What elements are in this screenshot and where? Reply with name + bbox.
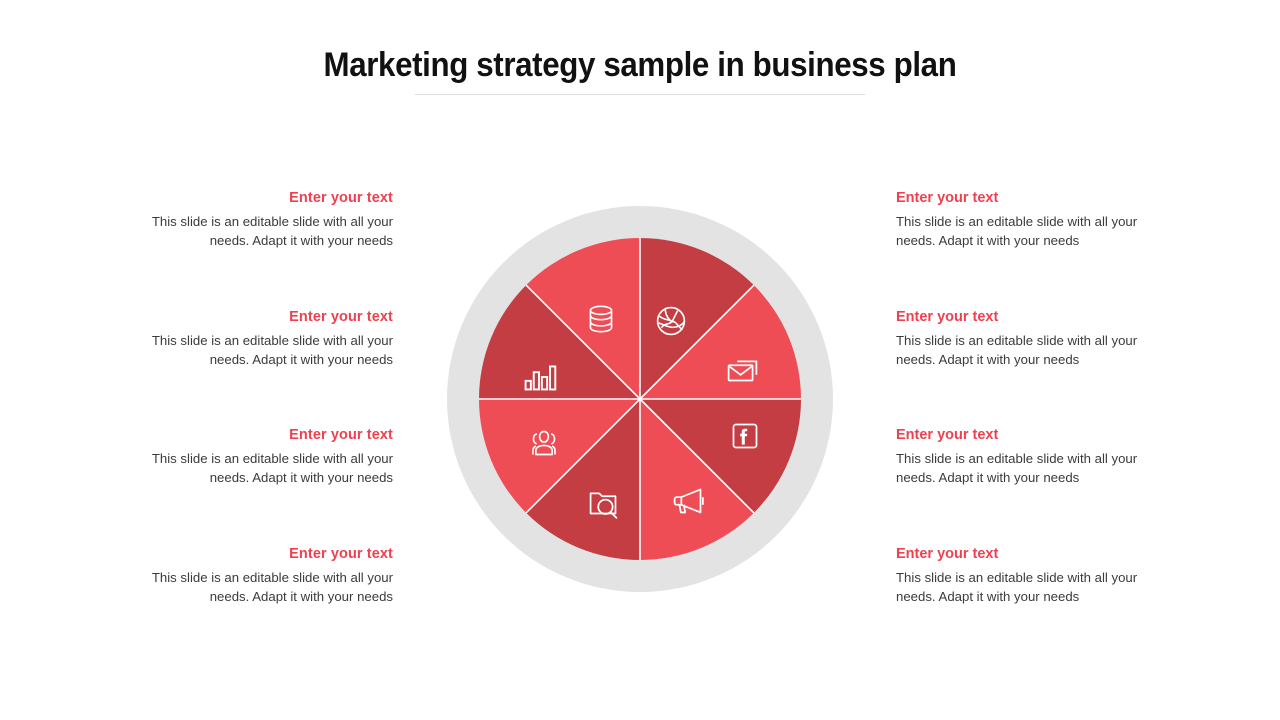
text-block-heading: Enter your text [896,546,1144,563]
text-block-heading: Enter your text [896,427,1144,444]
page-title: Marketing strategy sample in business pl… [51,46,1229,85]
text-block-right-2[interactable]: Enter your text This slide is an editabl… [896,309,1144,369]
text-block-body: This slide is an editable slide with all… [145,450,393,487]
title-divider [415,94,865,95]
text-block-heading: Enter your text [145,190,393,207]
text-block-heading: Enter your text [145,546,393,563]
wheel-segments [479,238,801,560]
text-block-heading: Enter your text [896,190,1144,207]
text-block-right-3[interactable]: Enter your text This slide is an editabl… [896,427,1144,487]
text-block-left-2[interactable]: Enter your text This slide is an editabl… [145,309,393,369]
text-block-right-1[interactable]: Enter your text This slide is an editabl… [896,190,1144,250]
text-block-right-4[interactable]: Enter your text This slide is an editabl… [896,546,1144,606]
text-block-heading: Enter your text [145,309,393,326]
text-block-left-4[interactable]: Enter your text This slide is an editabl… [145,546,393,606]
text-block-left-1[interactable]: Enter your text This slide is an editabl… [145,190,393,250]
text-block-heading: Enter your text [896,309,1144,326]
text-block-body: This slide is an editable slide with all… [896,569,1144,606]
segmented-wheel-diagram [447,206,833,592]
text-block-body: This slide is an editable slide with all… [145,213,393,250]
text-block-body: This slide is an editable slide with all… [145,332,393,369]
text-block-left-3[interactable]: Enter your text This slide is an editabl… [145,427,393,487]
text-block-body: This slide is an editable slide with all… [896,450,1144,487]
text-block-heading: Enter your text [145,427,393,444]
text-block-body: This slide is an editable slide with all… [145,569,393,606]
text-block-body: This slide is an editable slide with all… [896,332,1144,369]
text-block-body: This slide is an editable slide with all… [896,213,1144,250]
